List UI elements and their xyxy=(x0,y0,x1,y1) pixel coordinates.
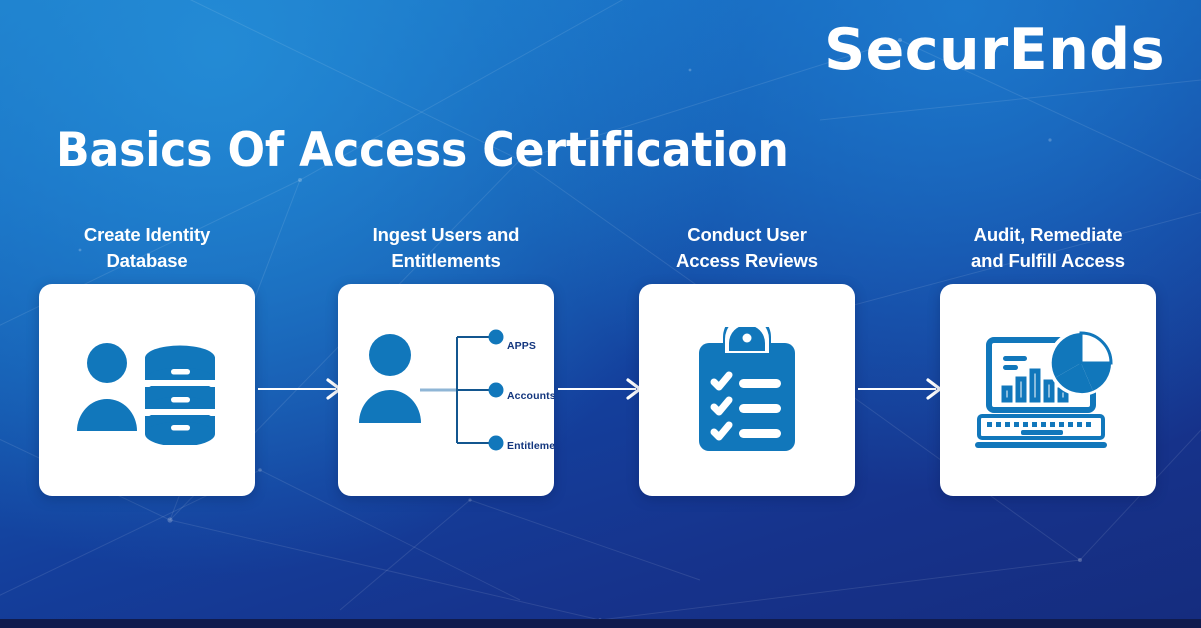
step-2-card[interactable]: APPS Accounts Entitlements xyxy=(338,284,554,496)
step-3-label-line1: Conduct User xyxy=(639,222,855,248)
step-ingest-users-entitlements: Ingest Users and Entitlements xyxy=(338,222,554,278)
steps-row: Create Identity Database xyxy=(0,222,1201,512)
step-4-label: Audit, Remediate and Fulfill Access xyxy=(940,222,1156,278)
step-2-label-line1: Ingest Users and xyxy=(338,222,554,248)
step-audit-remediate-fulfill: Audit, Remediate and Fulfill Access xyxy=(940,222,1156,278)
step-2-label-line2: Entitlements xyxy=(338,248,554,274)
step-1-card[interactable] xyxy=(39,284,255,496)
securends-logo: SecurEnds xyxy=(824,22,1165,79)
branch-label-apps: APPS xyxy=(507,340,536,352)
step-2-label: Ingest Users and Entitlements xyxy=(338,222,554,278)
step-1-label-line2: Database xyxy=(39,248,255,274)
step-create-identity-database: Create Identity Database xyxy=(39,222,255,278)
step-4-label-line2: and Fulfill Access xyxy=(940,248,1156,274)
bottom-strip xyxy=(0,619,1201,628)
page-title: Basics Of Access Certification xyxy=(56,125,789,178)
step-1-label: Create Identity Database xyxy=(39,222,255,278)
arrow-1 xyxy=(258,378,348,400)
step-1-label-line1: Create Identity xyxy=(39,222,255,248)
branch-label-accounts: Accounts xyxy=(507,390,554,402)
step-4-card[interactable] xyxy=(940,284,1156,496)
clipboard-checklist-icon xyxy=(695,327,799,453)
branch-label-entitlements: Entitlements xyxy=(507,440,554,452)
arrow-3 xyxy=(858,378,948,400)
step-3-label-line2: Access Reviews xyxy=(639,248,855,274)
step-conduct-user-access-reviews: Conduct User Access Reviews xyxy=(639,222,855,278)
user-database-icon xyxy=(72,335,222,445)
step-3-card[interactable] xyxy=(639,284,855,496)
step-3-label: Conduct User Access Reviews xyxy=(639,222,855,278)
arrow-2 xyxy=(558,378,648,400)
step-4-label-line1: Audit, Remediate xyxy=(940,222,1156,248)
laptop-analytics-icon xyxy=(973,330,1123,450)
